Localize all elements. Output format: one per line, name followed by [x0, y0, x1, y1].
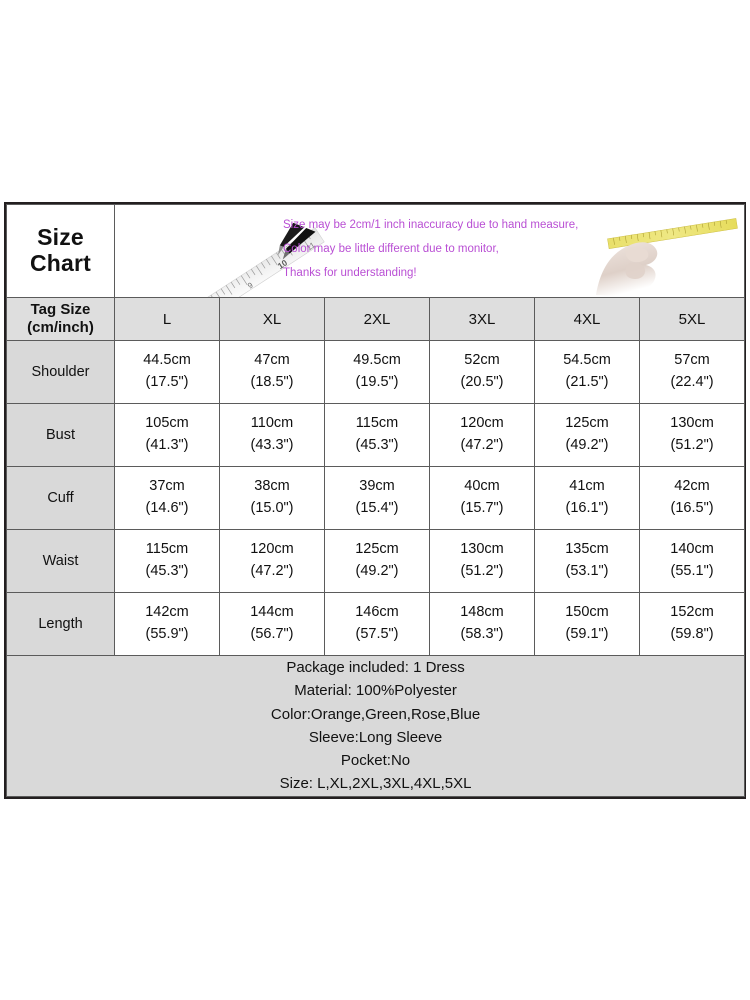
disclaimer-line-3: Thanks for understanding!: [283, 261, 613, 285]
disclaimer-line-2: Color may be little different due to mon…: [283, 237, 613, 261]
value-cm: 42cm: [640, 476, 744, 498]
value-cm: 125cm: [535, 413, 639, 435]
cell-shoulder-2xl: 49.5cm (19.5"): [325, 341, 430, 404]
value-inch: (15.4"): [325, 498, 429, 520]
value-cm: 120cm: [220, 539, 324, 561]
size-header-xl: XL: [220, 298, 325, 341]
value-cm: 125cm: [325, 539, 429, 561]
value-cm: 140cm: [640, 539, 744, 561]
value-cm: 52cm: [430, 350, 534, 372]
cell-cuff-5xl: 42cm (16.5"): [640, 467, 745, 530]
info-material: Material: 100%Polyester: [7, 679, 744, 702]
cell-length-2xl: 146cm (57.5"): [325, 593, 430, 656]
title-line-2: Chart: [7, 251, 114, 277]
size-chart-page: Size Chart: [0, 0, 750, 1000]
value-inch: (49.2"): [325, 561, 429, 583]
value-inch: (55.1"): [640, 561, 744, 583]
cell-waist-2xl: 125cm (49.2"): [325, 530, 430, 593]
cell-waist-l: 115cm (45.3"): [115, 530, 220, 593]
cell-bust-l: 105cm (41.3"): [115, 404, 220, 467]
value-inch: (16.5"): [640, 498, 744, 520]
row-label-shoulder: Shoulder: [7, 341, 115, 404]
value-inch: (41.3"): [115, 435, 219, 457]
value-inch: (14.6"): [115, 498, 219, 520]
value-cm: 37cm: [115, 476, 219, 498]
value-cm: 44.5cm: [115, 350, 219, 372]
value-inch: (17.5"): [115, 372, 219, 394]
value-cm: 144cm: [220, 602, 324, 624]
value-inch: (57.5"): [325, 624, 429, 646]
cell-length-xl: 144cm (56.7"): [220, 593, 325, 656]
cell-cuff-l: 37cm (14.6"): [115, 467, 220, 530]
value-inch: (22.4"): [640, 372, 744, 394]
value-cm: 110cm: [220, 413, 324, 435]
value-inch: (18.5"): [220, 372, 324, 394]
cell-bust-3xl: 120cm (47.2"): [430, 404, 535, 467]
disclaimer-notes: Size may be 2cm/1 inch inaccuracy due to…: [283, 213, 613, 285]
value-inch: (53.1"): [535, 561, 639, 583]
header-row: Tag Size (cm/inch) L XL 2XL 3XL 4XL 5XL: [7, 298, 745, 341]
value-inch: (58.3"): [430, 624, 534, 646]
row-label-waist: Waist: [7, 530, 115, 593]
value-cm: 41cm: [535, 476, 639, 498]
row-label-length: Length: [7, 593, 115, 656]
table-row: Bust 105cm (41.3") 110cm (43.3") 115cm (…: [7, 404, 745, 467]
value-cm: 47cm: [220, 350, 324, 372]
cell-cuff-4xl: 41cm (16.1"): [535, 467, 640, 530]
value-inch: (19.5"): [325, 372, 429, 394]
tag-size-label: Tag Size: [7, 301, 114, 319]
value-inch: (15.0"): [220, 498, 324, 520]
value-cm: 40cm: [430, 476, 534, 498]
hand-tape-measure-icon: [590, 209, 742, 297]
value-cm: 146cm: [325, 602, 429, 624]
banner-artwork: 9 10 11: [115, 205, 744, 297]
size-chart-container: Size Chart: [4, 202, 746, 799]
cell-length-l: 142cm (55.9"): [115, 593, 220, 656]
value-cm: 38cm: [220, 476, 324, 498]
cell-waist-xl: 120cm (47.2"): [220, 530, 325, 593]
info-color: Color:Orange,Green,Rose,Blue: [7, 703, 744, 726]
table-row: Length 142cm (55.9") 144cm (56.7") 146cm…: [7, 593, 745, 656]
value-inch: (55.9"): [115, 624, 219, 646]
cell-shoulder-l: 44.5cm (17.5"): [115, 341, 220, 404]
cell-length-3xl: 148cm (58.3"): [430, 593, 535, 656]
title-line-1: Size: [7, 225, 114, 251]
info-package: Package included: 1 Dress: [7, 656, 744, 679]
value-inch: (56.7"): [220, 624, 324, 646]
value-cm: 57cm: [640, 350, 744, 372]
value-inch: (45.3"): [115, 561, 219, 583]
banner-cell: 9 10 11: [115, 205, 745, 298]
product-info-row: Package included: 1 Dress Material: 100%…: [7, 656, 745, 797]
value-cm: 120cm: [430, 413, 534, 435]
cell-shoulder-4xl: 54.5cm (21.5"): [535, 341, 640, 404]
value-inch: (51.2"): [430, 561, 534, 583]
value-cm: 130cm: [430, 539, 534, 561]
value-cm: 152cm: [640, 602, 744, 624]
cell-cuff-xl: 38cm (15.0"): [220, 467, 325, 530]
row-label-cuff: Cuff: [7, 467, 115, 530]
cell-waist-5xl: 140cm (55.1"): [640, 530, 745, 593]
cell-shoulder-5xl: 57cm (22.4"): [640, 341, 745, 404]
value-cm: 130cm: [640, 413, 744, 435]
table-row: Waist 115cm (45.3") 120cm (47.2") 125cm …: [7, 530, 745, 593]
row-label-bust: Bust: [7, 404, 115, 467]
value-cm: 39cm: [325, 476, 429, 498]
cell-length-5xl: 152cm (59.8"): [640, 593, 745, 656]
value-cm: 115cm: [325, 413, 429, 435]
cell-waist-4xl: 135cm (53.1"): [535, 530, 640, 593]
value-inch: (43.3"): [220, 435, 324, 457]
value-inch: (16.1"): [535, 498, 639, 520]
banner-row: Size Chart: [7, 205, 745, 298]
size-header-4xl: 4XL: [535, 298, 640, 341]
value-inch: (49.2"): [535, 435, 639, 457]
value-inch: (21.5"): [535, 372, 639, 394]
info-pocket: Pocket:No: [7, 749, 744, 772]
tag-size-units: (cm/inch): [7, 319, 114, 337]
info-size: Size: L,XL,2XL,3XL,4XL,5XL: [7, 772, 744, 795]
cell-cuff-2xl: 39cm (15.4"): [325, 467, 430, 530]
cell-bust-5xl: 130cm (51.2"): [640, 404, 745, 467]
size-header-l: L: [115, 298, 220, 341]
size-chart-title: Size Chart: [7, 205, 115, 298]
value-cm: 135cm: [535, 539, 639, 561]
info-sleeve: Sleeve:Long Sleeve: [7, 726, 744, 749]
cell-waist-3xl: 130cm (51.2"): [430, 530, 535, 593]
cell-cuff-3xl: 40cm (15.7"): [430, 467, 535, 530]
value-cm: 142cm: [115, 602, 219, 624]
cell-bust-xl: 110cm (43.3"): [220, 404, 325, 467]
cell-bust-2xl: 115cm (45.3"): [325, 404, 430, 467]
value-cm: 105cm: [115, 413, 219, 435]
size-chart-table: Size Chart: [6, 204, 745, 797]
value-inch: (59.8"): [640, 624, 744, 646]
cell-length-4xl: 150cm (59.1"): [535, 593, 640, 656]
size-header-3xl: 3XL: [430, 298, 535, 341]
value-cm: 49.5cm: [325, 350, 429, 372]
cell-shoulder-3xl: 52cm (20.5"): [430, 341, 535, 404]
cell-shoulder-xl: 47cm (18.5"): [220, 341, 325, 404]
cell-bust-4xl: 125cm (49.2"): [535, 404, 640, 467]
product-info: Package included: 1 Dress Material: 100%…: [7, 656, 745, 797]
value-cm: 54.5cm: [535, 350, 639, 372]
disclaimer-line-1: Size may be 2cm/1 inch inaccuracy due to…: [283, 213, 613, 237]
value-inch: (51.2"): [640, 435, 744, 457]
size-header-5xl: 5XL: [640, 298, 745, 341]
value-inch: (59.1"): [535, 624, 639, 646]
table-row: Shoulder 44.5cm (17.5") 47cm (18.5") 49.…: [7, 341, 745, 404]
value-cm: 150cm: [535, 602, 639, 624]
size-header-2xl: 2XL: [325, 298, 430, 341]
table-row: Cuff 37cm (14.6") 38cm (15.0") 39cm (15.…: [7, 467, 745, 530]
value-cm: 148cm: [430, 602, 534, 624]
value-inch: (47.2"): [220, 561, 324, 583]
value-cm: 115cm: [115, 539, 219, 561]
value-inch: (45.3"): [325, 435, 429, 457]
value-inch: (47.2"): [430, 435, 534, 457]
value-inch: (20.5"): [430, 372, 534, 394]
value-inch: (15.7"): [430, 498, 534, 520]
tag-size-header: Tag Size (cm/inch): [7, 298, 115, 341]
